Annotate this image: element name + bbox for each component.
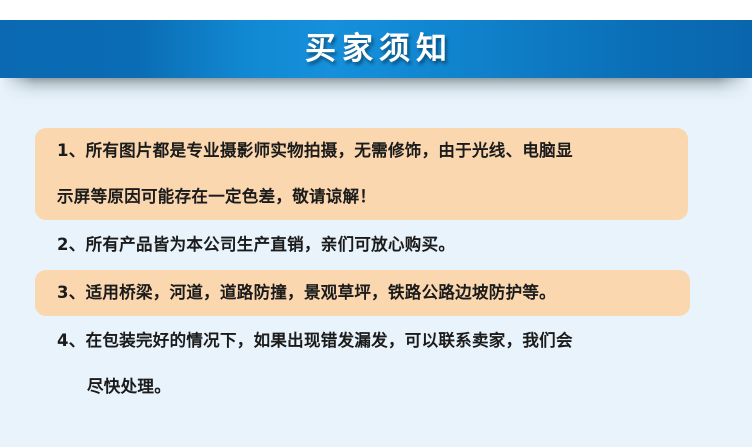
notice-item-2-line-1: 2、所有产品皆为本公司生产直销，亲们可放心购买。 — [35, 222, 688, 268]
notice-item-1-line-1: 1、所有图片都是专业摄影师实物拍摄，无需修饰，由于光线、电脑显 — [35, 128, 688, 174]
page-title: 买家须知 — [299, 34, 453, 65]
notice-list: 1、所有图片都是专业摄影师实物拍摄，无需修饰，由于光线、电脑显 示屏等原因可能存… — [0, 110, 752, 447]
banner-drop-shadow — [0, 78, 752, 108]
banner-shadow-fade-right — [718, 78, 752, 108]
top-white-strip — [0, 0, 752, 20]
notice-item-3-line-1: 3、适用桥梁，河道，道路防撞，景观草坪，铁路公路边坡防护等。 — [35, 270, 690, 316]
banner-shadow-fade-left — [0, 78, 34, 108]
buyer-notice-page: 买家须知 1、所有图片都是专业摄影师实物拍摄，无需修饰，由于光线、电脑显 示屏等… — [0, 0, 752, 447]
notice-item-1: 1、所有图片都是专业摄影师实物拍摄，无需修饰，由于光线、电脑显 示屏等原因可能存… — [35, 128, 688, 220]
notice-item-1-line-2: 示屏等原因可能存在一定色差，敬请谅解！ — [35, 174, 688, 220]
notice-item-4: 4、在包装完好的情况下，如果出现错发漏发，可以联系卖家，我们会 尽快处理。 — [35, 318, 688, 410]
notice-item-4-line-2: 尽快处理。 — [35, 364, 688, 410]
notice-item-4-line-1: 4、在包装完好的情况下，如果出现错发漏发，可以联系卖家，我们会 — [35, 318, 688, 364]
notice-item-2: 2、所有产品皆为本公司生产直销，亲们可放心购买。 — [35, 222, 688, 268]
header-banner: 买家须知 — [0, 20, 752, 78]
notice-item-3: 3、适用桥梁，河道，道路防撞，景观草坪，铁路公路边坡防护等。 — [35, 270, 690, 316]
